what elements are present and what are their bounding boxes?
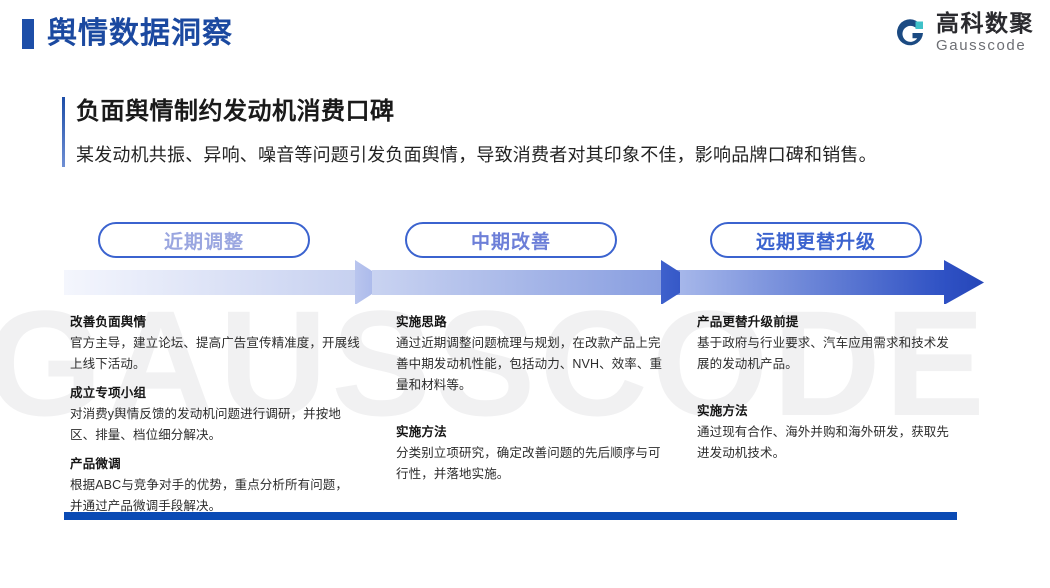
content-block-body: 官方主导，建立论坛、提高广告宣传精准度，开展线上线下活动。 bbox=[70, 333, 360, 375]
column-near-term: 改善负面舆情 官方主导，建立论坛、提高广告宣传精准度，开展线上线下活动。 成立专… bbox=[70, 312, 360, 517]
content-block: 实施思路 通过近期调整问题梳理与规划，在改款产品上完善中期发动机性能，包括动力、… bbox=[396, 312, 666, 396]
content-block-title: 实施思路 bbox=[396, 312, 666, 333]
brand-logo-text: 高科数聚 Gausscode bbox=[936, 12, 1034, 53]
lead-subtitle: 某发动机共振、异响、噪音等问题引发负面舆情，导致消费者对其印象不佳，影响品牌口碑… bbox=[76, 141, 962, 169]
slide-root: GAUSSCODE 舆情数据洞察 高科数聚 Gausscode 负面舆情制约发动… bbox=[0, 0, 1050, 588]
content-block-body: 通过近期调整问题梳理与规划，在改款产品上完善中期发动机性能，包括动力、NVH、效… bbox=[396, 333, 666, 396]
stage-pill-mid-term[interactable]: 中期改善 bbox=[405, 222, 617, 258]
gausscode-g-circle-logo-icon bbox=[893, 16, 927, 50]
footer-accent-bar bbox=[64, 512, 957, 520]
lead-title: 负面舆情制约发动机消费口碑 bbox=[76, 95, 962, 129]
stage-pill-group: 近期调整 中期改善 远期更替升级 bbox=[0, 222, 1050, 258]
content-block-body: 分类别立项研究，确定改善问题的先后顺序与可行性，并落地实施。 bbox=[396, 443, 666, 485]
brand-name-cn: 高科数聚 bbox=[936, 12, 1034, 35]
content-block-title: 产品更替升级前提 bbox=[697, 312, 959, 333]
header-marker-icon bbox=[22, 19, 34, 49]
content-block-body: 基于政府与行业要求、汽车应用需求和技术发展的发动机产品。 bbox=[697, 333, 959, 375]
stage-pill-long-term[interactable]: 远期更替升级 bbox=[710, 222, 922, 258]
content-block-body: 对消费y舆情反馈的发动机问题进行调研，并按地区、排量、档位细分解决。 bbox=[70, 404, 360, 446]
brand-logo: 高科数聚 Gausscode bbox=[893, 12, 1034, 53]
content-block-title: 实施方法 bbox=[396, 422, 666, 443]
content-block-title: 实施方法 bbox=[697, 401, 959, 422]
content-block-body: 通过现有合作、海外并购和海外研发，获取先进发动机技术。 bbox=[697, 422, 959, 464]
content-block-title: 改善负面舆情 bbox=[70, 312, 360, 333]
stage-pill-near-term[interactable]: 近期调整 bbox=[98, 222, 310, 258]
content-block-body: 根据ABC与竞争对手的优势，重点分析所有问题，并通过产品微调手段解决。 bbox=[70, 475, 360, 517]
content-block: 产品微调 根据ABC与竞争对手的优势，重点分析所有问题，并通过产品微调手段解决。 bbox=[70, 454, 360, 517]
content-block-title: 产品微调 bbox=[70, 454, 360, 475]
brand-name-en: Gausscode bbox=[936, 38, 1034, 53]
lead-block: 负面舆情制约发动机消费口碑 某发动机共振、异响、噪音等问题引发负面舆情，导致消费… bbox=[62, 95, 962, 169]
content-block: 实施方法 通过现有合作、海外并购和海外研发，获取先进发动机技术。 bbox=[697, 401, 959, 464]
page-title: 舆情数据洞察 bbox=[47, 13, 233, 55]
column-mid-term: 实施思路 通过近期调整问题梳理与规划，在改款产品上完善中期发动机性能，包括动力、… bbox=[396, 312, 666, 485]
content-block: 改善负面舆情 官方主导，建立论坛、提高广告宣传精准度，开展线上线下活动。 bbox=[70, 312, 360, 375]
content-block: 成立专项小组 对消费y舆情反馈的发动机问题进行调研，并按地区、排量、档位细分解决… bbox=[70, 383, 360, 446]
column-long-term: 产品更替升级前提 基于政府与行业要求、汽车应用需求和技术发展的发动机产品。 实施… bbox=[697, 312, 959, 464]
content-block: 实施方法 分类别立项研究，确定改善问题的先后顺序与可行性，并落地实施。 bbox=[396, 422, 666, 485]
right-chevron-progress-arrow-icon bbox=[0, 258, 1050, 304]
content-block-title: 成立专项小组 bbox=[70, 383, 360, 404]
content-columns: 改善负面舆情 官方主导，建立论坛、提高广告宣传精准度，开展线上线下活动。 成立专… bbox=[0, 312, 1050, 502]
content-block: 产品更替升级前提 基于政府与行业要求、汽车应用需求和技术发展的发动机产品。 bbox=[697, 312, 959, 375]
